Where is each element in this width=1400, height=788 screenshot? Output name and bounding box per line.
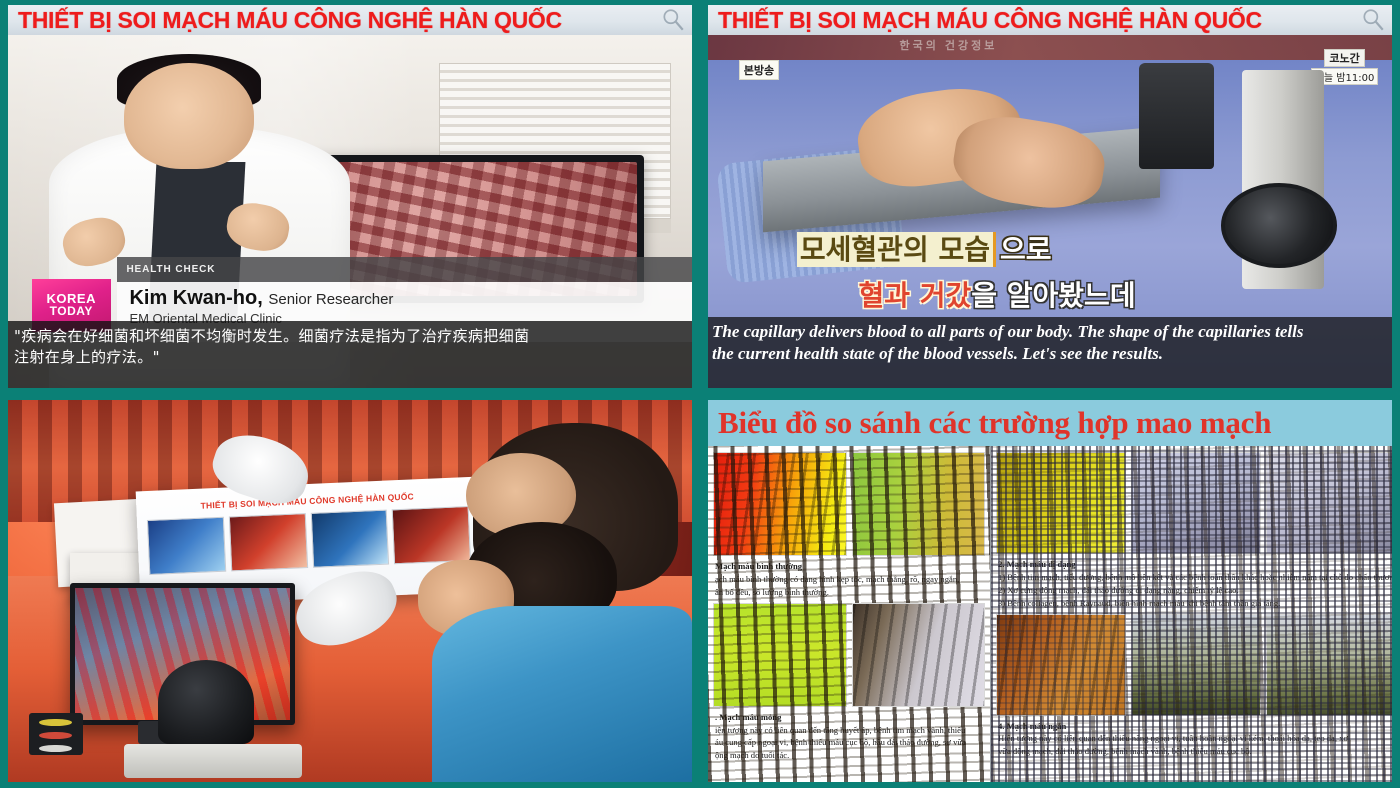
korean-caption-red: 혈과 거갔 [858, 279, 971, 312]
chart-images-thin [713, 603, 985, 707]
magnifier-icon [1360, 7, 1386, 33]
lime-thin-capillary-image [713, 603, 847, 707]
korean-caption-white: 을 알아봤느데 [971, 279, 1135, 312]
person-foreground-shirt [432, 606, 692, 782]
doctor-head [124, 63, 254, 169]
chart-body: Mạch máu bình thường ạch máu bình thường… [708, 446, 1392, 782]
person-name: Kim Kwan-ho, [129, 287, 262, 309]
grey-thin-capillary-image [852, 603, 986, 707]
chinese-subtitles: "疾病会在好细菌和坏细菌不均衡时发生。细菌疗法是指为了治疗疾病把细菌 注射在身上… [8, 321, 692, 388]
person-role: Senior Researcher [268, 291, 393, 308]
person-name-line: Kim Kwan-ho, Senior Researcher [129, 288, 692, 309]
english-subtitle-line-1: The capillary delivers blood to all part… [712, 321, 1388, 342]
logo-line-2: TODAY [50, 306, 93, 317]
chart-column-right: 2. Mạch máu dị dạng 1) Bệnh tim mạch, ti… [991, 446, 1392, 782]
subtitle-line-2: 注射在身上的疗法。" [14, 347, 686, 368]
broadcast-top-bar-text: 한국의 건강정보 [900, 37, 998, 53]
connector-white [39, 745, 72, 753]
watermark-live-badge: 본방송 [739, 60, 779, 80]
chart-cell-thin-capillary: . Mạch máu mỏng iện tượng này có liên qu… [713, 603, 985, 763]
brochure-thumb-4 [392, 506, 471, 564]
panel-top-right-microscope: THIẾT BỊ SOI MẠCH MÁU CÔNG NGHỆ HÀN QUỐC… [700, 0, 1400, 394]
capillary-comparison-chart: Biểu đồ so sánh các trường hợp mao mạch … [708, 400, 1392, 782]
brochure-thumb-1 [147, 517, 226, 575]
banner-top-left-text: THIẾT BỊ SOI MẠCH MÁU CÔNG NGHỆ HÀN QUỐC [8, 9, 562, 32]
korean-caption-line-1: 모세혈관의 모습으로 [797, 236, 1052, 264]
korean-caption-highlight: 모세혈관의 모습 [797, 232, 996, 267]
workshop-photo: THIẾT BỊ SOI MẠCH MÁU CÔNG NGHỆ HÀN QUỐC [8, 400, 692, 782]
microscope-objective [1139, 63, 1214, 169]
banner-top-left: THIẾT BỊ SOI MẠCH MÁU CÔNG NGHỆ HÀN QUỐC [8, 5, 692, 35]
connector-yellow [39, 719, 72, 727]
microscope-base [124, 744, 302, 778]
microscope-head [158, 660, 254, 744]
korean-caption-line-2: 혈과 거갔을 알아봤느데 [858, 282, 1135, 310]
english-subtitle-line-2: the current health state of the blood ve… [712, 343, 1388, 364]
interview-photo: HEALTH CHECK Kim Kwan-ho, Senior Researc… [8, 35, 692, 388]
lower-third-strip: HEALTH CHECK [117, 257, 692, 282]
microscope-lens [1221, 183, 1337, 268]
english-subtitles: The capillary delivers blood to all part… [708, 317, 1392, 388]
chart-cell-short-capillary: 4. Mạch máu ngắn Hiện tượng này có liên … [996, 614, 1392, 759]
panel-bottom-left-workshop: THIẾT BỊ SOI MẠCH MÁU CÔNG NGHỆ HÀN QUỐC [0, 394, 700, 788]
program-label: HEALTH CHECK [117, 264, 215, 275]
korean-caption-plain: 으로 [1000, 233, 1052, 266]
chart-column-left: Mạch máu bình thường ạch máu bình thường… [708, 446, 991, 782]
brochure-thumb-2 [229, 513, 308, 571]
chart-images-short [996, 614, 1392, 716]
broadcast-top-bar [708, 35, 1392, 60]
magnifier-icon [660, 7, 686, 33]
subtitle-line-1: "疾病会在好细菌和坏细菌不均衡时发生。细菌疗法是指为了治疗疾病把细菌 [14, 326, 686, 347]
connector-panel [29, 713, 84, 755]
four-panel-collage: THIẾT BỊ SOI MẠCH MÁU CÔNG NGHỆ HÀN QUỐC… [0, 0, 1400, 788]
brochure-thumbnails [147, 506, 471, 575]
olive-dense-capillary-image [1266, 614, 1392, 716]
panel-bottom-right-chart: Biểu đồ so sánh các trường hợp mao mạch … [700, 394, 1400, 788]
chart-banner-text: Biểu đồ so sánh các trường hợp mao mạch [718, 405, 1271, 441]
chart-banner: Biểu đồ so sánh các trường hợp mao mạch [708, 400, 1392, 446]
microscope-photo: 한국의 건강정보 본방송 코노간 오늘 밤11:00 모세혈관의 모습으로 혈과… [708, 35, 1392, 388]
brochure-thumb-3 [310, 510, 389, 568]
watermark-channel: 코노간 [1324, 49, 1364, 67]
panel-top-left-interview: THIẾT BỊ SOI MẠCH MÁU CÔNG NGHỆ HÀN QUỐC… [0, 0, 700, 394]
banner-top-right-text: THIẾT BỊ SOI MẠCH MÁU CÔNG NGHỆ HÀN QUỐC [708, 9, 1262, 32]
banner-top-right: THIẾT BỊ SOI MẠCH MÁU CÔNG NGHỆ HÀN QUỐC [708, 5, 1392, 35]
connector-red [39, 732, 72, 740]
